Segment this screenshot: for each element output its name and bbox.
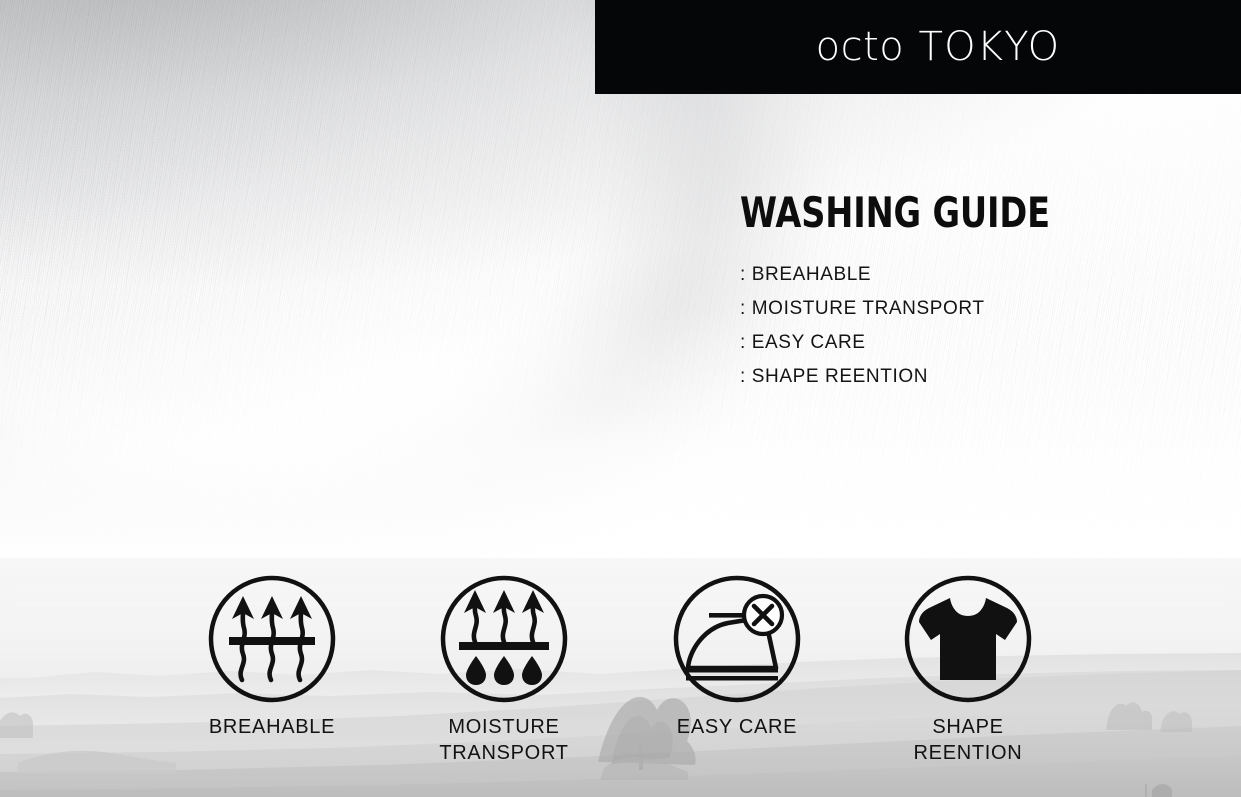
feature-label-line-1: MOISTURE — [448, 716, 559, 738]
brand-logo: octo TOKYO — [816, 27, 1061, 67]
guide-list-item-easy-care: : EASY CARE — [740, 326, 1170, 360]
feature-moisture-transport: MOISTURE TRANSPORT — [404, 560, 604, 766]
feature-icon-row: BREAHABLE MOI — [0, 560, 1241, 797]
breathable-icon — [207, 574, 337, 704]
washing-guide-poster: octo TOKYO WASHING GUIDE : BREAHABLE : M… — [0, 0, 1241, 797]
feature-label-moisture-transport: MOISTURE TRANSPORT — [404, 714, 604, 766]
brand-logo-upper: TOKYO — [918, 24, 1060, 70]
feature-label-line-1: BREAHABLE — [209, 716, 335, 738]
feature-label-easy-care: EASY CARE — [637, 714, 837, 740]
tshirt-shape-retention-icon — [903, 574, 1033, 704]
moisture-transport-icon — [439, 574, 569, 704]
feature-shape-retention: SHAPE REENTION — [868, 560, 1068, 766]
guide-feature-list: : BREAHABLE : MOISTURE TRANSPORT : EASY … — [740, 258, 1170, 394]
guide-list-item-breathable: : BREAHABLE — [740, 258, 1170, 292]
feature-breathable: BREAHABLE — [172, 560, 372, 740]
brand-logo-lower: octo — [816, 24, 905, 70]
washing-guide-block: WASHING GUIDE : BREAHABLE : MOISTURE TRA… — [740, 192, 1170, 394]
no-iron-easy-care-icon — [672, 574, 802, 704]
page-title: WASHING GUIDE — [740, 192, 1084, 234]
feature-label-shape-retention: SHAPE REENTION — [868, 714, 1068, 766]
feature-label-line-1: SHAPE — [932, 716, 1003, 738]
guide-list-item-moisture-transport: : MOISTURE TRANSPORT — [740, 292, 1170, 326]
brand-logo-bar: octo TOKYO — [595, 0, 1241, 94]
guide-list-item-shape-retention: : SHAPE REENTION — [740, 360, 1170, 394]
feature-label-line-2: REENTION — [914, 742, 1023, 764]
feature-label-line-2: TRANSPORT — [439, 742, 568, 764]
feature-label-breathable: BREAHABLE — [172, 714, 372, 740]
feature-easy-care: EASY CARE — [637, 560, 837, 740]
feature-label-line-1: EASY CARE — [677, 716, 797, 738]
